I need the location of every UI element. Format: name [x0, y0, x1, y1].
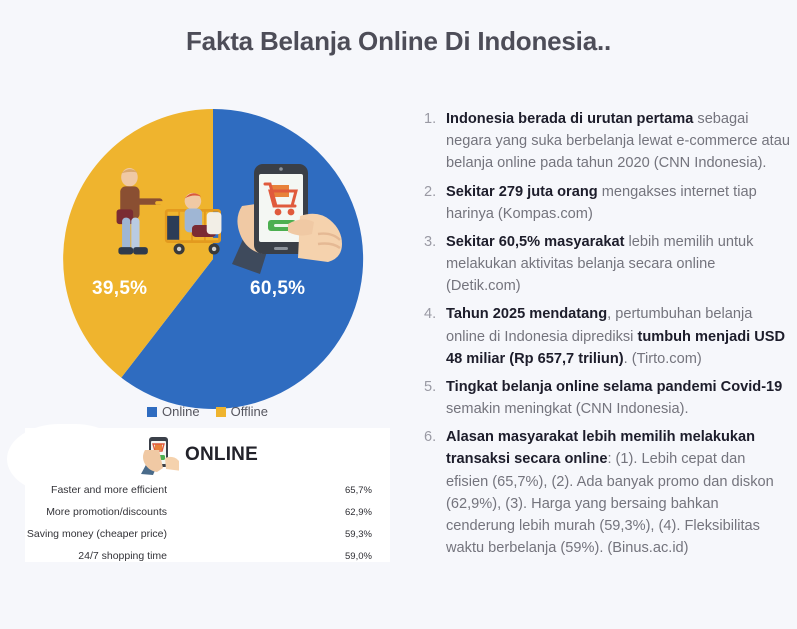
charts-column: 39,5% 60,5% Online Offline ONLIN	[0, 96, 415, 616]
list-item: Tingkat belanja online selama pandemi Co…	[424, 376, 790, 420]
legend-label-online: Online	[162, 404, 200, 419]
pie-label-offline: 39,5%	[92, 278, 147, 300]
legend-item-online[interactable]: Online	[147, 404, 200, 419]
table-row: 24/7 shopping time 59,0%	[25, 546, 390, 566]
bar-chart-header: ONLINE	[137, 432, 258, 478]
facts-list: Indonesia berada di urutan pertama sebag…	[424, 108, 790, 559]
phone-hand-icon	[137, 434, 179, 476]
bar-label-0: Faster and more efficient	[25, 484, 175, 496]
bar-value-1: 62,9%	[340, 507, 372, 518]
list-item: Sekitar 279 juta orang mengakses interne…	[424, 181, 790, 225]
legend-item-offline[interactable]: Offline	[216, 404, 268, 419]
bar-track-1	[175, 505, 340, 520]
bar-value-3: 59,0%	[340, 551, 372, 562]
legend-swatch-offline	[216, 407, 226, 417]
table-row: Saving money (cheaper price) 59,3%	[25, 524, 390, 544]
bar-chart-rows: Faster and more efficient 65,7% More pro…	[25, 480, 390, 568]
facts-column: Indonesia berada di urutan pertama sebag…	[424, 108, 790, 565]
pie-chart: 39,5% 60,5%	[60, 106, 366, 412]
page-title: Fakta Belanja Online Di Indonesia..	[0, 26, 797, 57]
bar-value-0: 65,7%	[340, 485, 372, 496]
legend-swatch-online	[147, 407, 157, 417]
table-row: More promotion/discounts 62,9%	[25, 502, 390, 522]
legend-label-offline: Offline	[231, 404, 268, 419]
bar-value-2: 59,3%	[340, 529, 372, 540]
bar-label-3: 24/7 shopping time	[25, 550, 175, 562]
list-item: Indonesia berada di urutan pertama sebag…	[424, 108, 790, 175]
pie-legend: Online Offline	[0, 404, 415, 419]
bar-track-0	[175, 483, 340, 498]
bar-label-1: More promotion/discounts	[25, 506, 175, 518]
bar-label-2: Saving money (cheaper price)	[25, 528, 175, 540]
list-item: Sekitar 60,5% masyarakat lebih memilih u…	[424, 231, 790, 298]
list-item: Tahun 2025 mendatang, pertumbuhan belanj…	[424, 303, 790, 370]
bar-chart-panel: ONLINE Faster and more efficient 65,7% M…	[25, 428, 390, 562]
pie-chart-svg	[60, 106, 366, 412]
pie-label-online: 60,5%	[250, 278, 305, 300]
list-item: Alasan masyarakat lebih memilih melakuka…	[424, 426, 790, 559]
table-row: Faster and more efficient 65,7%	[25, 480, 390, 500]
bar-chart-title: ONLINE	[185, 444, 258, 466]
bar-track-3	[175, 549, 340, 564]
bar-track-2	[175, 527, 340, 542]
